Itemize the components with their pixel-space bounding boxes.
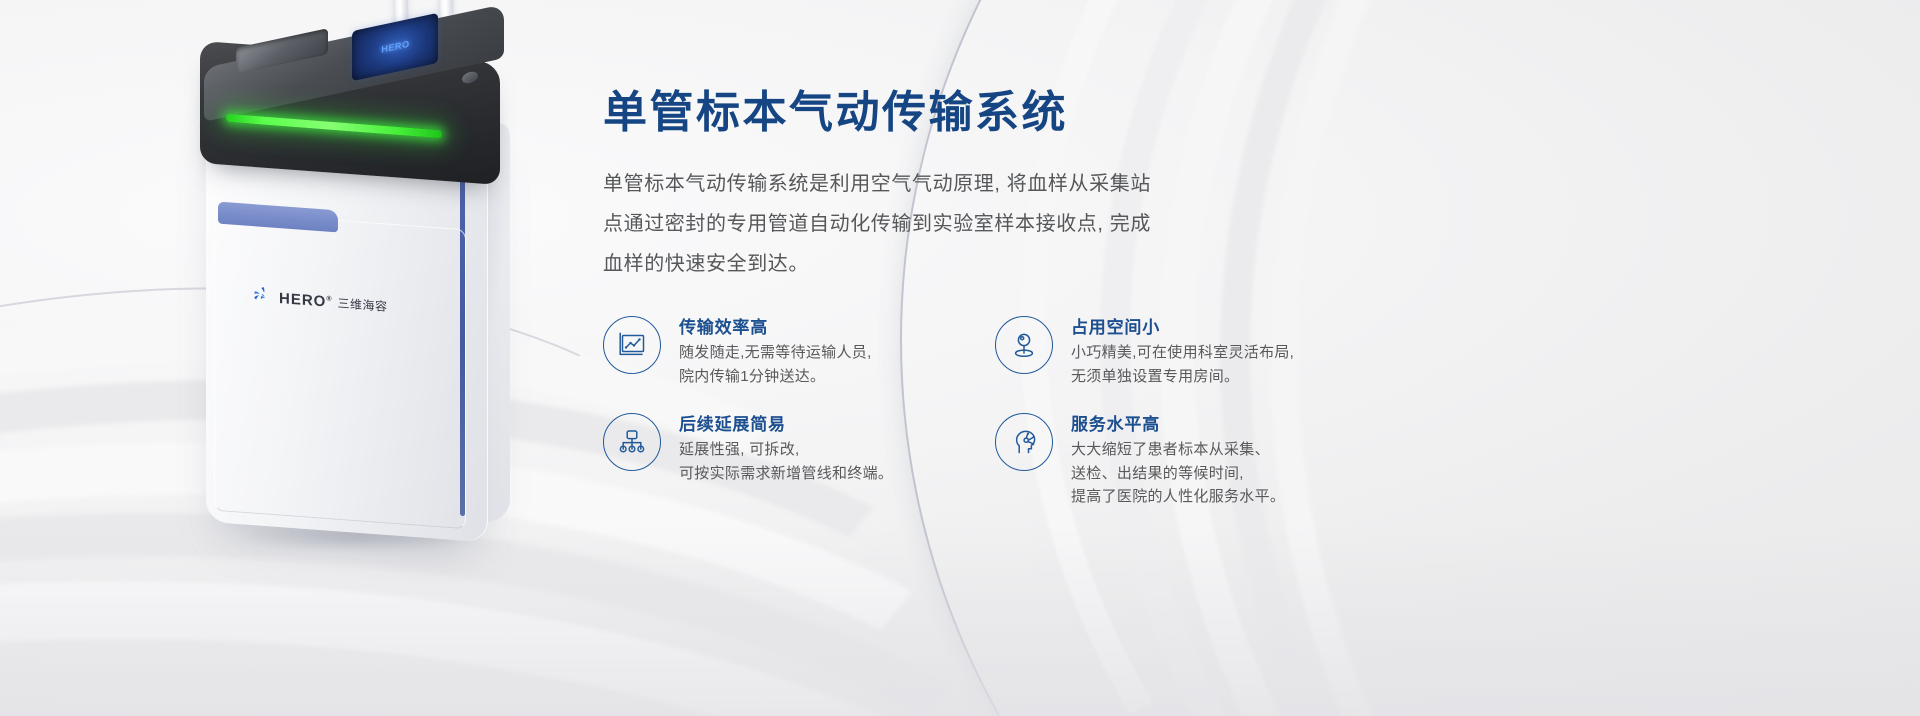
feature-title: 传输效率高 xyxy=(679,315,872,341)
page-title: 单管标本气动传输系统 xyxy=(603,86,1603,140)
smart-head-icon xyxy=(995,413,1053,471)
product-banner: HERO HERO® 三维海容 单管标本气动传输系统 单管标本气动传输系统是利用… xyxy=(0,0,1920,716)
feature-item-easy-extension: 后续延展简易 延展性强, 可拆改, 可按实际需求新增管线和终端。 xyxy=(603,411,995,510)
feature-line: 提高了医院的人性化服务水平。 xyxy=(1071,485,1285,509)
line-chart-icon-glyph xyxy=(616,329,648,361)
feature-line: 延展性强, 可拆改, xyxy=(679,438,893,462)
page-description: 单管标本气动传输系统是利用空气气动原理, 将血样从采集站 点通过密封的专用管道自… xyxy=(603,164,1248,284)
screen-logo-text: HERO xyxy=(381,39,409,55)
registered-mark-icon: ® xyxy=(326,295,332,302)
feature-title: 后续延展简易 xyxy=(679,412,893,438)
description-line: 血样的快速安全到达。 xyxy=(603,244,1248,284)
feature-list: 传输效率高 随发随走,无需等待运输人员, 院内传输1分钟送达。 占用空间小 xyxy=(603,314,1603,509)
feature-line: 无须单独设置专用房间。 xyxy=(1071,365,1294,389)
hero-pinwheel-icon xyxy=(252,285,274,309)
feature-line: 院内传输1分钟送达。 xyxy=(679,365,872,389)
feature-line: 可按实际需求新增管线和终端。 xyxy=(679,462,893,486)
feature-title: 服务水平高 xyxy=(1071,412,1285,438)
network-tree-icon-glyph xyxy=(616,426,648,458)
line-chart-icon xyxy=(603,316,661,374)
space-pin-icon-glyph xyxy=(1008,329,1040,361)
feature-item-small-footprint: 占用空间小 小巧精美,可在使用科室灵活布局, 无须单独设置专用房间。 xyxy=(995,314,1387,389)
feature-line: 小巧精美,可在使用科室灵活布局, xyxy=(1071,341,1294,365)
content-column: 单管标本气动传输系统 单管标本气动传输系统是利用空气气动原理, 将血样从采集站 … xyxy=(603,86,1603,509)
feature-item-service-level: 服务水平高 大大缩短了患者标本从采集、 送检、出结果的等候时间, 提高了医院的人… xyxy=(995,411,1387,510)
description-line: 点通过密封的专用管道自动化传输到实验室样本接收点, 完成 xyxy=(603,204,1248,244)
device-front-panel-seam xyxy=(214,211,466,530)
feature-item-transmission-efficiency: 传输效率高 随发随走,无需等待运输人员, 院内传输1分钟送达。 xyxy=(603,314,995,389)
feature-text: 占用空间小 小巧精美,可在使用科室灵活布局, 无须单独设置专用房间。 xyxy=(1071,314,1294,389)
device-logo-cn: 三维海容 xyxy=(338,294,388,315)
feature-line: 送检、出结果的等候时间, xyxy=(1071,462,1285,486)
network-tree-icon xyxy=(603,413,661,471)
feature-text: 服务水平高 大大缩短了患者标本从采集、 送检、出结果的等候时间, 提高了医院的人… xyxy=(1071,411,1285,510)
feature-text: 后续延展简易 延展性强, 可拆改, 可按实际需求新增管线和终端。 xyxy=(679,411,893,486)
space-pin-icon xyxy=(995,316,1053,374)
feature-text: 传输效率高 随发随走,无需等待运输人员, 院内传输1分钟送达。 xyxy=(679,314,872,389)
device-logo-en-text: HERO xyxy=(279,290,326,310)
description-line: 单管标本气动传输系统是利用空气气动原理, 将血样从采集站 xyxy=(603,164,1248,204)
smart-head-icon-glyph xyxy=(1008,426,1040,458)
feature-title: 占用空间小 xyxy=(1071,315,1294,341)
feature-line: 随发随走,无需等待运输人员, xyxy=(679,341,872,365)
device-logo-en: HERO® xyxy=(279,290,333,311)
feature-line: 大大缩短了患者标本从采集、 xyxy=(1071,438,1285,462)
